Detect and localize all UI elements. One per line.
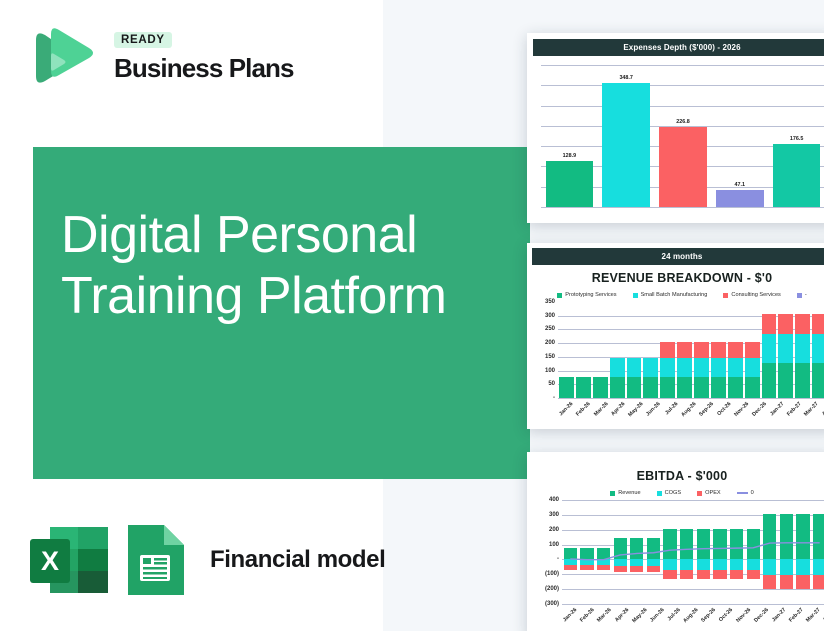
gridline — [541, 85, 824, 86]
stacked-bar-column[interactable] — [642, 358, 659, 398]
bar-segment[interactable] — [694, 377, 709, 398]
bar-segment[interactable] — [559, 377, 574, 398]
stacked-bar-column[interactable] — [761, 314, 778, 398]
bar-value-label: 348.7 — [598, 75, 655, 81]
y-axis-tick: 200 — [545, 340, 555, 346]
gridline — [541, 207, 824, 208]
footer-row: X Financial model — [28, 521, 385, 599]
bar-segment[interactable] — [762, 314, 777, 335]
y-axis-tick: 350 — [545, 299, 555, 305]
stacked-bar-column[interactable] — [609, 358, 626, 398]
legend-item[interactable]: Small Batch Manufacturing — [633, 292, 708, 298]
x-axis-tick: Nov-26 — [735, 607, 752, 624]
bar-segment[interactable] — [778, 314, 793, 335]
bar-segment[interactable] — [694, 342, 709, 358]
stacked-bar-column[interactable] — [811, 314, 824, 398]
bar-column[interactable]: 226.8 — [655, 127, 712, 208]
y-axis-tick: 400 — [549, 497, 559, 503]
x-axis-tick: Jul-26 — [663, 401, 679, 417]
revenue-plot: 35030025020015010050- — [558, 302, 824, 398]
bar-segment[interactable] — [711, 358, 726, 377]
legend-label: Consulting Services — [731, 292, 780, 298]
bar-segment[interactable] — [677, 358, 692, 377]
bar-segment[interactable] — [795, 363, 810, 398]
x-axis-tick: Mar-27 — [805, 607, 822, 624]
bar-segment[interactable] — [711, 342, 726, 358]
revenue-chart-title: REVENUE BREAKDOWN - $'0 — [532, 271, 824, 285]
legend-swatch-icon — [697, 491, 702, 496]
gridline — [541, 65, 824, 66]
legend-label: COGS — [665, 490, 681, 496]
legend-item[interactable]: 0 — [737, 490, 754, 496]
legend-label: Small Batch Manufacturing — [641, 292, 708, 298]
x-axis-tick: Mar-27 — [804, 401, 821, 418]
legend-swatch-icon — [610, 491, 615, 496]
x-axis-tick: Oct-26 — [716, 401, 732, 417]
bar-segment[interactable] — [627, 358, 642, 377]
x-axis-tick: Dec-26 — [753, 607, 770, 624]
bar-segment[interactable] — [660, 342, 675, 358]
legend-swatch-icon — [723, 293, 728, 298]
stacked-bar-column[interactable] — [592, 377, 609, 398]
y-axis-tick: 300 — [545, 313, 555, 319]
x-axis-tick: Jun-26 — [646, 401, 663, 418]
bar-segment[interactable] — [762, 363, 777, 398]
gridline — [562, 604, 824, 605]
legend-label: Revenue — [618, 490, 640, 496]
y-axis-tick: - — [557, 556, 559, 562]
x-axis-tick: Jan-27 — [771, 607, 787, 623]
stacked-bar-column[interactable] — [575, 377, 592, 398]
stacked-bar-column[interactable] — [676, 342, 693, 398]
bar-segment[interactable] — [643, 358, 658, 377]
legend-item[interactable]: OPEX — [697, 490, 721, 496]
x-axis-tick: Jan-27 — [769, 401, 785, 417]
bar-segment[interactable] — [576, 377, 591, 398]
bar-segment[interactable] — [812, 363, 824, 398]
revenue-legend: Prototyping ServicesSmall Batch Manufact… — [532, 292, 824, 298]
bar-segment[interactable] — [728, 377, 743, 398]
ready-badge: READY — [114, 32, 172, 48]
brand-text: READY Business Plans — [114, 30, 294, 84]
bar-segment[interactable] — [812, 334, 824, 363]
bar-segment[interactable] — [728, 342, 743, 358]
svg-text:X: X — [41, 546, 59, 576]
bar-column[interactable]: 176.5 — [768, 144, 824, 207]
y-axis-tick: 150 — [545, 354, 555, 360]
ebitda-plot: 400300200100-(100)(200)(300) — [562, 500, 824, 604]
y-axis-tick: (100) — [545, 571, 559, 577]
bar-segment[interactable] — [610, 358, 625, 377]
bar-segment[interactable] — [778, 363, 793, 398]
x-axis-tick: Feb-27 — [788, 607, 805, 624]
y-axis-tick: 100 — [549, 542, 559, 548]
y-axis-tick: 200 — [549, 527, 559, 533]
x-axis-tick: Nov-26 — [733, 401, 750, 418]
bar-segment[interactable] — [593, 377, 608, 398]
bar-column[interactable]: 348.7 — [598, 83, 655, 207]
y-axis-tick: 50 — [548, 381, 555, 387]
stacked-bar-column[interactable] — [727, 342, 744, 398]
x-axis-tick: Jun-26 — [649, 607, 666, 624]
bar-segment[interactable] — [610, 377, 625, 398]
legend-label: 0 — [751, 490, 754, 496]
bar[interactable] — [773, 144, 821, 207]
bar-segment[interactable] — [795, 334, 810, 363]
chart-card-revenue[interactable]: 24 months REVENUE BREAKDOWN - $'0 Protot… — [527, 243, 824, 429]
stacked-bar-column[interactable] — [794, 314, 811, 398]
bar-segment[interactable] — [677, 377, 692, 398]
bar-segment[interactable] — [627, 377, 642, 398]
bar[interactable] — [602, 83, 650, 207]
y-axis-tick: 300 — [549, 512, 559, 518]
stacked-bar-column[interactable] — [744, 342, 761, 398]
expenses-chart-header: Expenses Depth ($'000) - 2026 — [533, 39, 824, 56]
bar-segment[interactable] — [677, 342, 692, 358]
ebitda-legend: RevenueCOGSOPEX0 — [532, 490, 824, 496]
chart-card-ebitda[interactable]: EBITDA - $'000 RevenueCOGSOPEX0 40030020… — [527, 452, 824, 631]
google-sheets-icon — [124, 523, 186, 597]
legend-label: OPEX — [705, 490, 721, 496]
bar-segment[interactable] — [762, 334, 777, 363]
x-axis-tick: Mar-26 — [597, 607, 614, 624]
stacked-bar-column[interactable] — [777, 314, 794, 398]
stacked-bar-column[interactable] — [626, 358, 643, 398]
revenue-x-axis: Jan-26Feb-26Mar-26Apr-26May-26Jun-26Jul-… — [553, 401, 824, 407]
bar-segment[interactable] — [745, 377, 760, 398]
x-axis-tick: Oct-26 — [718, 607, 734, 623]
bar-segment[interactable] — [660, 377, 675, 398]
legend-swatch-icon — [633, 293, 638, 298]
bar-segment[interactable] — [812, 314, 824, 335]
x-axis-tick: Aug-26 — [683, 607, 700, 624]
x-axis-tick: Apr-26 — [610, 401, 626, 417]
x-axis-tick: Feb-26 — [579, 607, 596, 624]
bar-value-label: 176.5 — [768, 136, 824, 142]
legend-swatch-icon — [657, 491, 662, 496]
ebitda-chart-title: EBITDA - $'000 — [532, 469, 824, 483]
microsoft-excel-icon: X — [28, 523, 110, 597]
stacked-bar-column[interactable] — [693, 342, 710, 398]
bar-value-label: 47.1 — [711, 182, 768, 188]
bar[interactable] — [546, 161, 594, 207]
legend-label: - — [805, 292, 807, 298]
brand-logo-block: READY Business Plans — [26, 26, 326, 106]
footer-label: Financial model — [210, 546, 385, 574]
x-axis-tick: Jul-26 — [666, 607, 681, 622]
bar-segment[interactable] — [728, 358, 743, 377]
page-title: Digital Personal Training Platform — [61, 205, 491, 327]
x-axis-tick: Feb-26 — [575, 401, 592, 418]
x-axis-tick: May-26 — [628, 401, 645, 418]
gridline — [558, 398, 824, 399]
x-axis-tick: Sep-26 — [698, 401, 715, 418]
ebitda-zero-line-series — [562, 500, 824, 604]
gridline — [541, 106, 824, 107]
expenses-plot: 128.9348.7226.847.1176.5 — [541, 65, 824, 207]
stacked-bar-column[interactable] — [710, 342, 727, 398]
bar-column[interactable]: 47.1 — [711, 190, 768, 207]
bar[interactable] — [659, 127, 707, 208]
bar-segment[interactable] — [795, 314, 810, 335]
legend-label: Prototyping Services — [565, 292, 616, 298]
legend-swatch-icon — [797, 293, 802, 298]
bar-column[interactable]: 128.9 — [541, 161, 598, 207]
revenue-chart-header: 24 months — [532, 248, 824, 265]
bar-segment[interactable] — [745, 358, 760, 377]
x-axis-tick: Dec-26 — [751, 401, 768, 418]
bar[interactable] — [716, 190, 764, 207]
legend-item[interactable]: Revenue — [610, 490, 640, 496]
bar-segment[interactable] — [694, 358, 709, 377]
stacked-bar-column[interactable] — [659, 342, 676, 398]
brand-name: Business Plans — [114, 53, 294, 84]
chart-card-expenses[interactable]: Expenses Depth ($'000) - 2026 128.9348.7… — [527, 33, 824, 223]
hero-banner: Digital Personal Training Platform — [33, 147, 530, 479]
x-axis-tick: Aug-26 — [680, 401, 697, 418]
y-axis-tick: 100 — [545, 368, 555, 374]
ebitda-x-axis: Jan-26Feb-26Mar-26Apr-26May-26Jun-26Jul-… — [557, 607, 824, 613]
bar-segment[interactable] — [778, 334, 793, 363]
x-axis-tick: Jan-26 — [562, 607, 578, 623]
bar-value-label: 128.9 — [541, 153, 598, 159]
legend-swatch-icon — [737, 492, 748, 494]
y-axis-tick: (200) — [545, 586, 559, 592]
x-axis-tick: Feb-27 — [786, 401, 803, 418]
legend-item[interactable]: Consulting Services — [723, 292, 780, 298]
x-axis-tick: Jan-26 — [558, 401, 574, 417]
legend-item[interactable]: COGS — [657, 490, 681, 496]
legend-item[interactable]: - — [797, 292, 807, 298]
play-triangle-logo-icon — [26, 28, 96, 100]
x-axis-tick: Apr-26 — [614, 607, 630, 623]
x-axis-tick: May-26 — [631, 607, 648, 624]
legend-item[interactable]: Prototyping Services — [557, 292, 616, 298]
bar-segment[interactable] — [643, 377, 658, 398]
bar-segment[interactable] — [745, 342, 760, 358]
bar-segment[interactable] — [660, 358, 675, 377]
bar-segment[interactable] — [711, 377, 726, 398]
y-axis-tick: 250 — [545, 326, 555, 332]
x-axis-tick: Mar-26 — [593, 401, 610, 418]
legend-swatch-icon — [557, 293, 562, 298]
bar-value-label: 226.8 — [655, 119, 712, 125]
x-axis-tick: Sep-26 — [701, 607, 718, 624]
stacked-bar-column[interactable] — [558, 377, 575, 398]
